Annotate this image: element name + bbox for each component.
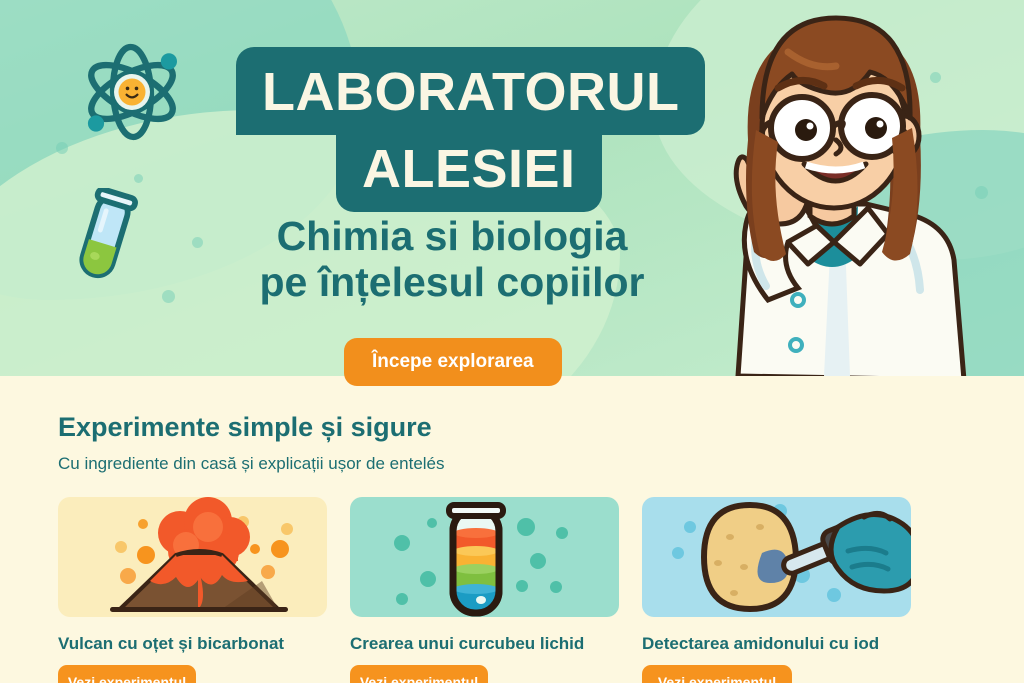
section-subheading: Cu ingrediente din casă și explicații uș… [58, 454, 445, 474]
hero-banner: LABORATORUL ALESIEI Chimia si biologia p… [0, 0, 1024, 376]
hero-subtitle-line1: Chimia si biologia [222, 214, 682, 260]
start-exploring-button[interactable]: Începe explorarea [344, 338, 562, 386]
card-action-button[interactable]: Vezi experimentul [350, 665, 488, 683]
card-title: Detectarea amidonului cu iod [642, 634, 911, 654]
atom-smiley-icon [78, 38, 186, 146]
decor-dot [56, 142, 68, 154]
card-title: Crearea unui curcubeu lichid [350, 634, 619, 654]
rainbow-liquid-test-tube-icon [350, 497, 619, 617]
card-action-button[interactable]: Vezi experimentul [58, 665, 196, 683]
experiment-card-list: Vulcan cu oțet și bicarbonat Vezi experi… [58, 497, 911, 683]
hero-title-group: LABORATORUL ALESIEI [236, 47, 1024, 215]
potato-iodine-dropper-icon [642, 497, 911, 617]
card-image-rainbow-tube [350, 497, 619, 617]
hero-subtitle: Chimia si biologia pe înțelesul copiilor [222, 214, 682, 306]
decor-dot [134, 174, 143, 183]
experiment-card[interactable]: Detectarea amidonului cu iod Vezi experi… [642, 497, 911, 683]
hero-title-line2: ALESIEI [336, 132, 602, 212]
decor-dot [162, 290, 175, 303]
experiment-card[interactable]: Crearea unui curcubeu lichid Vezi experi… [350, 497, 619, 683]
hero-title-line1: LABORATORUL [236, 47, 705, 135]
decor-dot [192, 237, 203, 248]
test-tube-icon [64, 188, 146, 284]
erupting-volcano-icon [58, 497, 327, 617]
card-image-potato-iodine [642, 497, 911, 617]
landing-page: LABORATORUL ALESIEI Chimia si biologia p… [0, 0, 1024, 683]
card-title: Vulcan cu oțet și bicarbonat [58, 634, 327, 654]
hero-subtitle-line2: pe înțelesul copiilor [222, 260, 682, 306]
card-action-button[interactable]: Vezi experimentul [642, 665, 792, 683]
section-heading: Experimente simple și sigure [58, 412, 432, 443]
card-image-volcano [58, 497, 327, 617]
experiment-card[interactable]: Vulcan cu oțet și bicarbonat Vezi experi… [58, 497, 327, 683]
